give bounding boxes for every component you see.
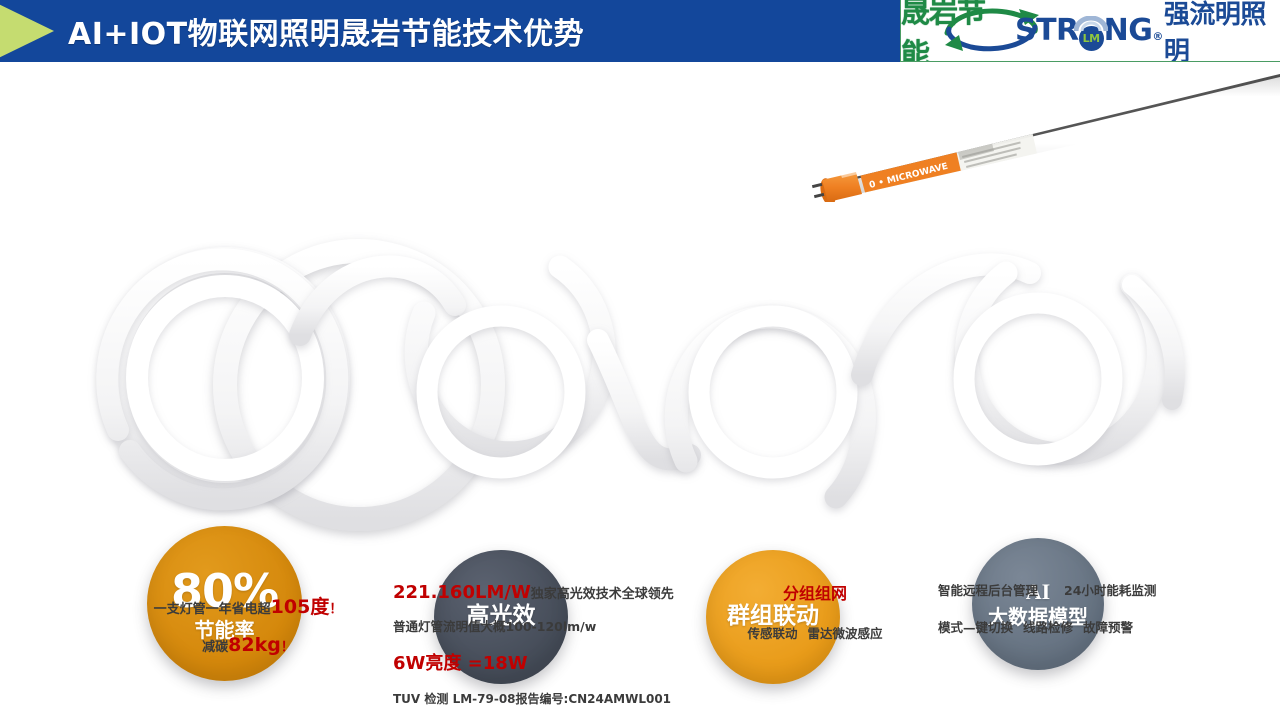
caption-2-line-4: TUV 检测 LM-79-08报告编号:CN24AMWL001 bbox=[393, 690, 723, 707]
caption-column-3: 分组组网 传感联动雷达微波感应 bbox=[700, 580, 930, 642]
caption-4-line-2: 模式—键切换线路检修故障预警 bbox=[938, 617, 1218, 636]
caption-1-line-1-value: 105度 bbox=[271, 596, 330, 618]
logo-lm-badge: LM bbox=[1079, 26, 1104, 51]
header-arrow-icon bbox=[0, 0, 54, 62]
caption-4-item-2: 24小时能耗监测 bbox=[1064, 583, 1156, 598]
logo-brand-en: STRLMNG® bbox=[1015, 13, 1163, 49]
page-title: AI+IOT物联网照明晟岩节能技术优势 bbox=[68, 9, 584, 53]
caption-1-line-1-pre: 一支灯管一年省电超 bbox=[154, 602, 271, 617]
caption-2-line-2: 普通灯管流明值大概100-120lm/w bbox=[393, 616, 723, 635]
caption-4-item-5: 故障预警 bbox=[1083, 620, 1133, 635]
caption-1-line-2-pre: 减碳 bbox=[202, 640, 228, 655]
feature-chain: 80% 节能率 高光效 群组联动 AI 大数据模型 bbox=[0, 225, 1280, 555]
caption-2-lumens-value: 221.160LM/W bbox=[393, 582, 531, 603]
caption-1-line-2-post: ！ bbox=[281, 640, 294, 655]
caption-1-line-1-post: ！ bbox=[329, 602, 342, 617]
caption-4-item-4: 线路检修 bbox=[1023, 620, 1073, 635]
caption-1-line-2: 减碳82kg！ bbox=[108, 634, 388, 656]
caption-3-item-1: 传感联动 bbox=[747, 626, 797, 641]
logo-wave-icon bbox=[1074, 16, 1108, 32]
logo-brand-cn2: 强流明照明 bbox=[1164, 0, 1280, 62]
caption-column-1: 一支灯管一年省电超105度！ 减碳82kg！ bbox=[108, 592, 388, 656]
logo-en-part2: NG bbox=[1104, 13, 1153, 48]
caption-3-line-2: 传感联动雷达微波感应 bbox=[700, 623, 930, 642]
caption-3-line-1: 分组组网 bbox=[700, 580, 930, 604]
caption-2-line-3: 6W亮度 =18W bbox=[393, 649, 723, 675]
brand-logo: 晟岩节能 STRLMNG® 强流明照明 bbox=[900, 0, 1280, 62]
caption-1-line-1: 一支灯管一年省电超105度！ bbox=[108, 592, 388, 619]
chain-ribbons bbox=[0, 225, 1280, 555]
caption-2-lumens-note: 独家高光效技术全球领先 bbox=[531, 587, 674, 602]
caption-column-2: 221.160LM/W独家高光效技术全球领先 普通灯管流明值大概100-120l… bbox=[393, 582, 723, 707]
caption-1-line-2-value: 82kg bbox=[228, 634, 281, 656]
led-tube-photo: 0 • MICROWAVE bbox=[770, 72, 1280, 202]
registered-mark: ® bbox=[1152, 30, 1163, 43]
caption-4-item-1: 智能远程后台管理 bbox=[938, 583, 1038, 598]
logo-en-part1: STR bbox=[1015, 13, 1079, 48]
caption-3-item-2: 雷达微波感应 bbox=[808, 626, 883, 641]
logo-lm-text: LM bbox=[1083, 32, 1100, 45]
caption-column-4: 智能远程后台管理24小时能耗监测 模式—键切换线路检修故障预警 bbox=[938, 580, 1218, 636]
logo-brand-cn: 晟岩节能 bbox=[901, 0, 1003, 62]
caption-4-line-1: 智能远程后台管理24小时能耗监测 bbox=[938, 580, 1218, 599]
led-tube-illustration: 0 • MICROWAVE bbox=[770, 72, 1280, 202]
caption-2-line-1: 221.160LM/W独家高光效技术全球领先 bbox=[393, 582, 723, 603]
caption-4-item-3: 模式—键切换 bbox=[938, 620, 1013, 635]
